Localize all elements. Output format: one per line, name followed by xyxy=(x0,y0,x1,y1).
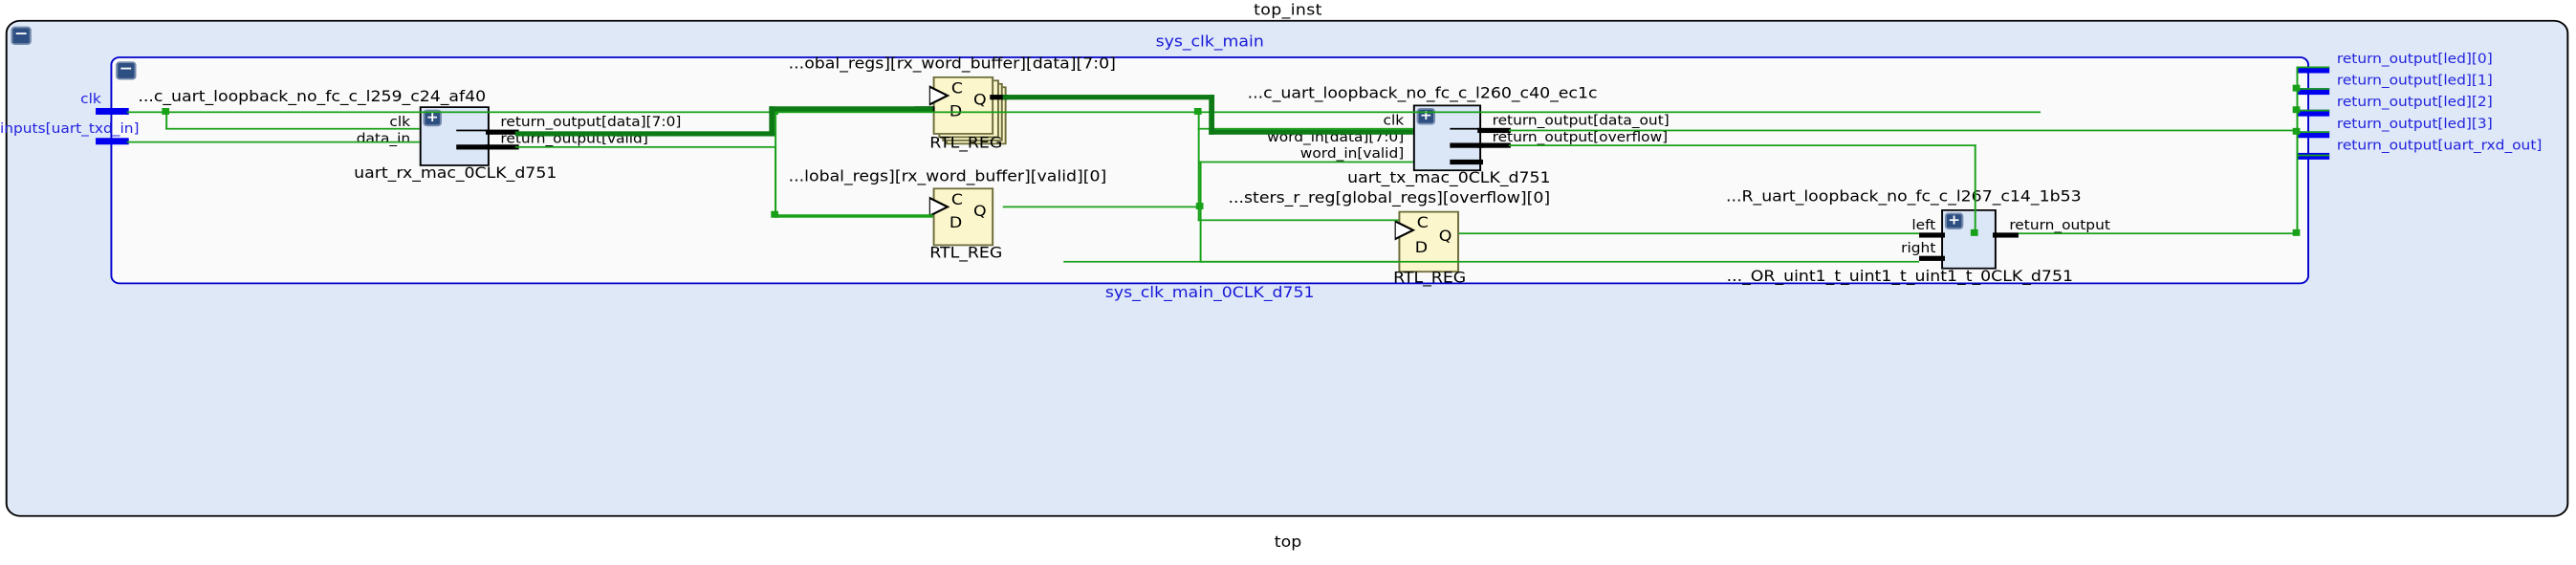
wire-or-out xyxy=(2019,232,2297,234)
schematic-canvas: top_inst − sys_clk_main − sys_clk_main_0… xyxy=(0,0,2576,565)
or-gate-pin-right: right xyxy=(1859,241,1936,256)
wire-valid-to-tx-word-in xyxy=(1200,162,1413,163)
wire-valid-reg-q xyxy=(1003,206,1202,208)
uart-rx-mac-out-data-stub xyxy=(486,130,519,135)
or-gate-out-label: return_output xyxy=(2009,218,2110,233)
wire-led1 xyxy=(2297,88,2330,90)
input-port-uart-txd-in[interactable] xyxy=(96,138,129,144)
uart-tx-mac-clk-stub xyxy=(1450,128,1481,130)
rx-valid-reg-top-label: ...lobal_regs][rx_word_buffer][valid][0] xyxy=(773,169,1123,185)
top-instance-label: top_inst xyxy=(0,3,2576,19)
or-gate-right-stub xyxy=(1919,256,1945,261)
bus-reg-q-to-tx-word-in xyxy=(1209,130,1413,135)
wire-led3 xyxy=(2297,131,2330,133)
wire-clk-rx-drop xyxy=(165,111,167,129)
wire-or-right-src xyxy=(1063,261,1201,263)
uart-rx-mac-out-valid-stub xyxy=(486,144,519,149)
wire-led-bus xyxy=(2297,67,2299,235)
uart-tx-mac-pin-word-in-valid: word_in[valid] xyxy=(1288,146,1404,162)
top-frame-collapse-button[interactable]: − xyxy=(11,27,32,45)
uart-rx-mac-out-data: return_output[data][7:0] xyxy=(500,115,681,130)
wire-tx-overflow-drop xyxy=(1975,144,1976,232)
wire-clk-trunk xyxy=(127,111,2041,113)
uart-tx-mac-out-data-out: return_output[data_out] xyxy=(1493,113,1670,128)
clock-domain-bottom-label: sys_clk_main_0CLK_d751 xyxy=(110,286,2309,302)
overflow-reg-top-label: ...sters_r_reg[global_regs][overflow][0] xyxy=(1214,191,1564,207)
junction-led2 xyxy=(2293,106,2301,113)
rx-valid-reg-pin-d: D xyxy=(950,216,962,232)
uart-tx-mac-word-in-valid-stub xyxy=(1450,160,1483,164)
bus-rx-data-to-reg-d xyxy=(769,106,932,111)
overflow-reg-pin-d: D xyxy=(1415,241,1428,257)
wire-valid-lower xyxy=(1200,206,1202,263)
uart-tx-mac-top-label: ...c_uart_loopback_no_fc_c_l260_c40_ec1c xyxy=(1248,86,1579,102)
uart-rx-mac-pin-data-in: data_in xyxy=(322,131,410,146)
wire-rx-valid-to-reg-d xyxy=(775,216,932,218)
top-module-bottom-label: top xyxy=(0,535,2576,552)
bus-reg-q-data xyxy=(1003,95,1214,99)
or-gate-pin-left: left xyxy=(1859,218,1936,233)
wire-valid-riser xyxy=(1200,162,1202,208)
rx-valid-reg-bottom-label: RTL_REG xyxy=(864,246,1067,262)
input-port-clk-label: clk xyxy=(18,92,101,107)
rx-valid-reg-pin-q: Q xyxy=(973,205,987,221)
wire-clk-to-overflow-reg xyxy=(1198,219,1399,221)
input-port-uart-txd-in-label: inputs[uart_txd_in] xyxy=(0,121,101,137)
wire-txd-to-rx-data-in xyxy=(127,141,420,143)
uart-rx-mac-top-label: ...c_uart_loopback_no_fc_c_l259_c24_af40 xyxy=(138,90,460,106)
junction-or-left xyxy=(1971,229,1978,236)
wire-tx-data-out-to-port xyxy=(1509,130,2299,132)
wire-led0 xyxy=(2297,67,2330,69)
wire-rx-valid-drop xyxy=(775,146,776,218)
bus-rx-data-out xyxy=(515,131,775,136)
uart-tx-mac-pin-clk: clk xyxy=(1288,113,1404,128)
output-port-uart-rxd-out-label: return_output[uart_rxd_out] xyxy=(2337,138,2543,153)
uart-tx-mac-bottom-label: uart_tx_mac_0CLK_d751 xyxy=(1288,171,1610,187)
bus-reg-q-drop xyxy=(1209,95,1214,135)
wire-or-right-run xyxy=(1202,261,1919,263)
junction-led3 xyxy=(2293,128,2301,135)
clock-domain-label: sys_clk_main xyxy=(110,35,2309,52)
uart-rx-mac-bottom-label: uart_rx_mac_0CLK_d751 xyxy=(295,166,617,183)
wire-clk-tx-drop xyxy=(1198,111,1200,129)
junction-led1 xyxy=(2293,85,2301,92)
overflow-reg-pin-q: Q xyxy=(1439,229,1452,246)
uart-tx-mac-out-overflow: return_output[overflow] xyxy=(1493,130,1669,145)
uart-rx-mac-data-in-stub xyxy=(456,144,490,149)
wire-tx-overflow xyxy=(1509,144,1976,146)
rx-valid-reg-pin-c: C xyxy=(951,193,963,209)
input-port-clk[interactable] xyxy=(96,108,129,115)
or-gate-top-label: ...R_uart_loopback_no_fc_c_l267_c14_1b53 xyxy=(1726,189,2076,206)
uart-tx-mac-out-overflow-stub xyxy=(1477,142,1511,147)
output-port-led0-label: return_output[led][0] xyxy=(2337,52,2493,67)
overflow-reg-bottom-label: RTL_REG xyxy=(1328,271,1531,287)
rx-data-reg-pin-q: Q xyxy=(973,93,987,109)
or-gate-bottom-label: ..._OR_uint1_t_uint1_t_uint1_t_0CLK_d751 xyxy=(1702,270,2098,286)
clock-domain-collapse-button[interactable]: − xyxy=(116,61,136,79)
wire-uart-rxd-out xyxy=(2297,155,2330,157)
uart-tx-mac-out-data-stub xyxy=(1477,128,1511,133)
output-port-led3-label: return_output[led][3] xyxy=(2337,117,2493,132)
or-gate-left-stub xyxy=(1919,232,1945,237)
wire-overflow-q-to-or-left xyxy=(1459,232,1919,234)
or-gate-out-stub xyxy=(1993,232,2019,237)
overflow-reg-pin-c: C xyxy=(1417,216,1429,232)
wire-rx-valid-out xyxy=(515,146,776,148)
rx-data-reg-bottom-label: RTL_REG xyxy=(864,137,1067,153)
junction-or-out xyxy=(2293,229,2301,236)
wire-led2 xyxy=(2297,110,2330,112)
wire-clk-to-rx-mac xyxy=(165,128,420,130)
output-port-led1-label: return_output[led][1] xyxy=(2337,73,2493,88)
rx-data-reg-top-label: ...obal_regs][rx_word_buffer][data][7:0] xyxy=(782,56,1123,73)
uart-rx-mac-clk-stub xyxy=(456,130,488,132)
or-gate-expand-button[interactable]: + xyxy=(1945,212,1963,228)
output-port-led2-label: return_output[led][2] xyxy=(2337,95,2493,110)
rx-data-reg-pin-c: C xyxy=(951,81,963,98)
